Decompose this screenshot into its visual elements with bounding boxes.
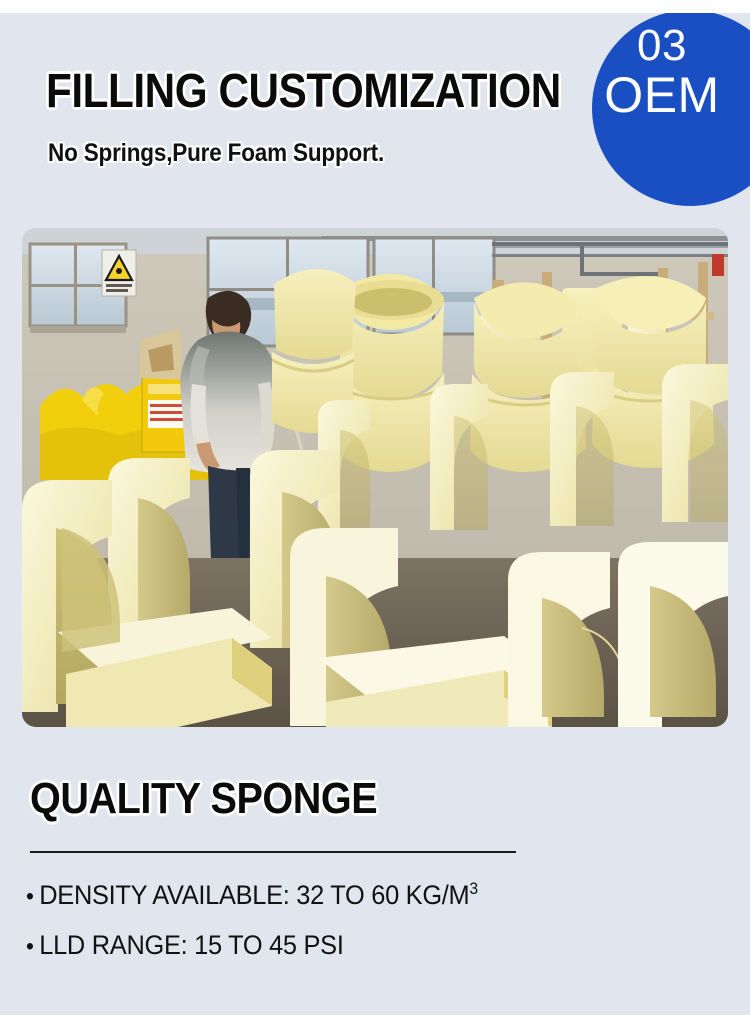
section-title: QUALITY SPONGE (30, 774, 377, 824)
banner-header: 03 OEM FILLING CUSTOMIZATION No Springs,… (0, 13, 750, 213)
spec-superscript: 3 (469, 879, 477, 898)
spec-list: •DENSITY AVAILABLE: 32 TO 60 KG/M3 •LLD … (26, 879, 726, 979)
list-item: •DENSITY AVAILABLE: 32 TO 60 KG/M3 (26, 879, 684, 913)
banner-panel: 03 OEM FILLING CUSTOMIZATION No Springs,… (0, 13, 750, 1015)
bullet-marker: • (26, 883, 34, 910)
section-divider (30, 851, 516, 853)
factory-foam-photo-illustration (22, 228, 728, 727)
spec-text: LLD RANGE: 15 TO 45 PSI (39, 930, 343, 960)
factory-photo (22, 228, 728, 727)
page-title: FILLING CUSTOMIZATION (46, 64, 561, 119)
product-feature-banner: 03 OEM FILLING CUSTOMIZATION No Springs,… (0, 0, 750, 1033)
step-label: OEM (592, 70, 732, 120)
bullet-marker: • (26, 933, 34, 960)
oem-step-badge-content: 03 OEM (592, 24, 732, 120)
page-subtitle: No Springs,Pure Foam Support. (48, 139, 384, 168)
spec-text: DENSITY AVAILABLE: 32 TO 60 KG/M (39, 880, 469, 910)
step-number: 03 (592, 24, 732, 68)
oem-step-badge: 03 OEM (592, 13, 750, 206)
list-item: •LLD RANGE: 15 TO 45 PSI (26, 929, 684, 963)
